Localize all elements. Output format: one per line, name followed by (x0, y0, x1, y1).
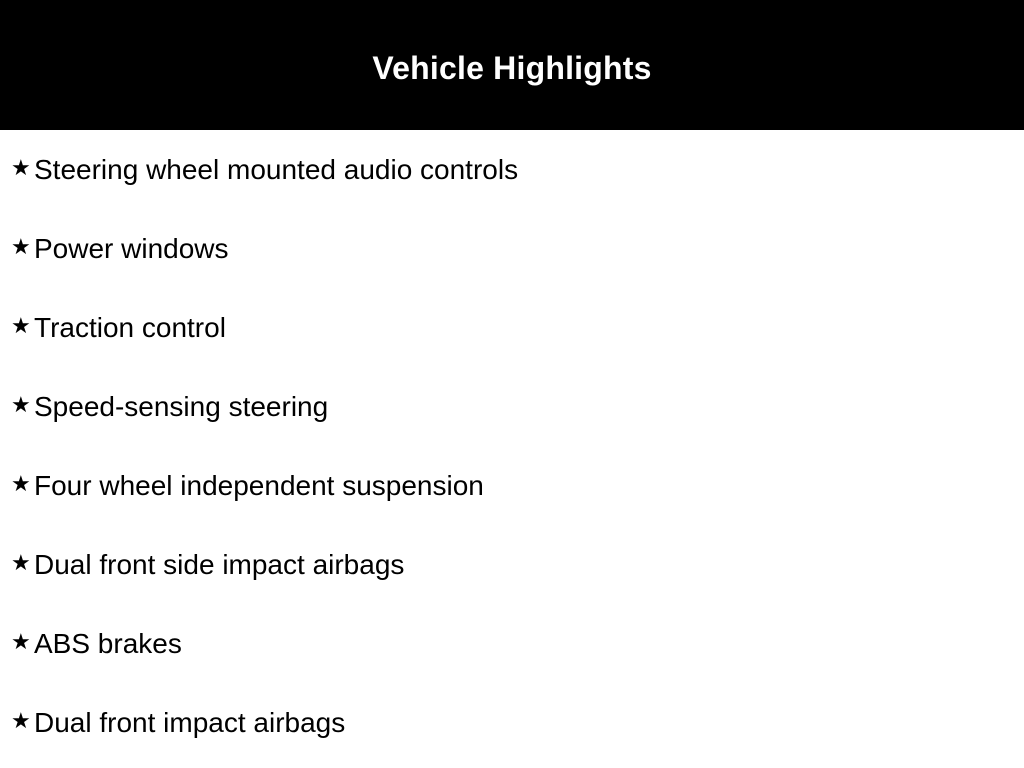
vehicle-highlights-slide: Vehicle Highlights ★ Steering wheel moun… (0, 0, 1024, 768)
list-item-label: ABS brakes (33, 630, 182, 658)
list-item-label: Power windows (33, 235, 229, 263)
star-bullet-icon: ★ (0, 237, 33, 259)
star-bullet-icon: ★ (0, 316, 33, 338)
list-item: ★ Four wheel independent suspension (0, 446, 1024, 525)
list-item-label: Traction control (33, 314, 226, 342)
star-bullet-icon: ★ (0, 395, 33, 417)
star-bullet-icon: ★ (0, 553, 33, 575)
star-bullet-icon: ★ (0, 158, 33, 180)
list-item: ★ Speed-sensing steering (0, 367, 1024, 446)
list-item: ★ Power windows (0, 209, 1024, 288)
header-band: Vehicle Highlights (0, 0, 1024, 130)
star-bullet-icon: ★ (0, 474, 33, 496)
list-item-label: Speed-sensing steering (33, 393, 328, 421)
list-item-label: Four wheel independent suspension (33, 472, 484, 500)
list-item: ★ Steering wheel mounted audio controls (0, 130, 1024, 209)
highlights-list: ★ Steering wheel mounted audio controls … (0, 130, 1024, 762)
list-item-label: Dual front side impact airbags (33, 551, 404, 579)
list-item: ★ Dual front side impact airbags (0, 525, 1024, 604)
list-item: ★ Traction control (0, 288, 1024, 367)
star-bullet-icon: ★ (0, 632, 33, 654)
list-item: ★ ABS brakes (0, 604, 1024, 683)
list-item-label: Dual front impact airbags (33, 709, 345, 737)
page-title: Vehicle Highlights (372, 52, 651, 84)
list-item-label: Steering wheel mounted audio controls (33, 156, 518, 184)
star-bullet-icon: ★ (0, 711, 33, 733)
list-item: ★ Dual front impact airbags (0, 683, 1024, 762)
